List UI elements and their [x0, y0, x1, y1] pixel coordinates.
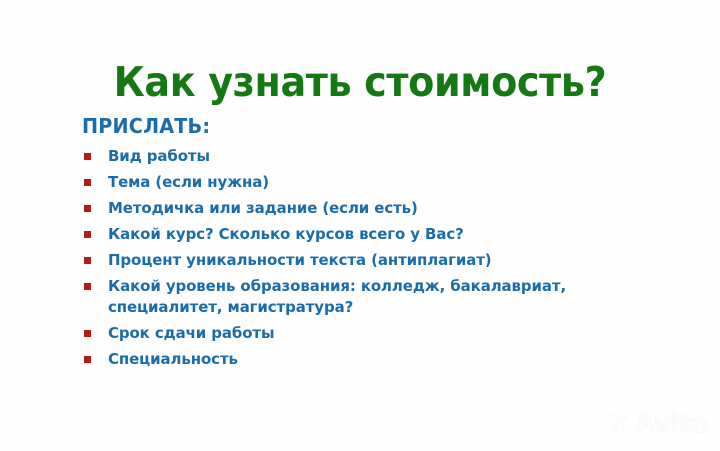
list-item: Какой курс? Сколько курсов всего у Вас?: [82, 224, 682, 245]
list-item-label: Какой уровень образования: колледж, бака…: [108, 276, 662, 318]
list-item: Какой уровень образования: колледж, бака…: [82, 276, 682, 318]
list-item: Тема (если нужна): [82, 172, 682, 193]
bullet-square-icon: [84, 330, 91, 337]
avito-watermark: Avito: [606, 411, 708, 437]
list-item: Процент уникальности текста (антиплагиат…: [82, 250, 682, 271]
bullet-square-icon: [84, 205, 91, 212]
list-item: Методичка или задание (если есть): [82, 198, 682, 219]
slide-canvas: Как узнать стоимость? ПРИСЛАТЬ: Вид рабо…: [0, 0, 720, 451]
list-item-line-1: Какой уровень образования: колледж, бака…: [108, 277, 566, 295]
avito-circles-icon: [606, 412, 632, 436]
list-item-line-2: специалитет, магистратура?: [108, 297, 662, 318]
bullet-square-icon: [84, 231, 91, 238]
page-title: Как узнать стоимость?: [25, 59, 695, 105]
list-item-label: Срок сдачи работы: [108, 323, 662, 344]
list-item-label: Методичка или задание (если есть): [108, 198, 662, 219]
list-item: Специальность: [82, 349, 682, 370]
bullet-square-icon: [84, 283, 91, 290]
bullet-square-icon: [84, 356, 91, 363]
bullet-square-icon: [84, 153, 91, 160]
requirements-list: Вид работы Тема (если нужна) Методичка и…: [82, 146, 682, 370]
avito-wordmark: Avito: [635, 411, 708, 437]
content-block: ПРИСЛАТЬ: Вид работы Тема (если нужна) М…: [82, 114, 682, 375]
list-item-label: Процент уникальности текста (антиплагиат…: [108, 250, 662, 271]
section-subheading: ПРИСЛАТЬ:: [82, 114, 658, 138]
list-item-label: Вид работы: [108, 146, 662, 167]
list-item: Срок сдачи работы: [82, 323, 682, 344]
list-item-label: Специальность: [108, 349, 662, 370]
list-item-label: Тема (если нужна): [108, 172, 662, 193]
list-item: Вид работы: [82, 146, 682, 167]
bullet-square-icon: [84, 257, 91, 264]
list-item-label: Какой курс? Сколько курсов всего у Вас?: [108, 224, 662, 245]
bullet-square-icon: [84, 179, 91, 186]
